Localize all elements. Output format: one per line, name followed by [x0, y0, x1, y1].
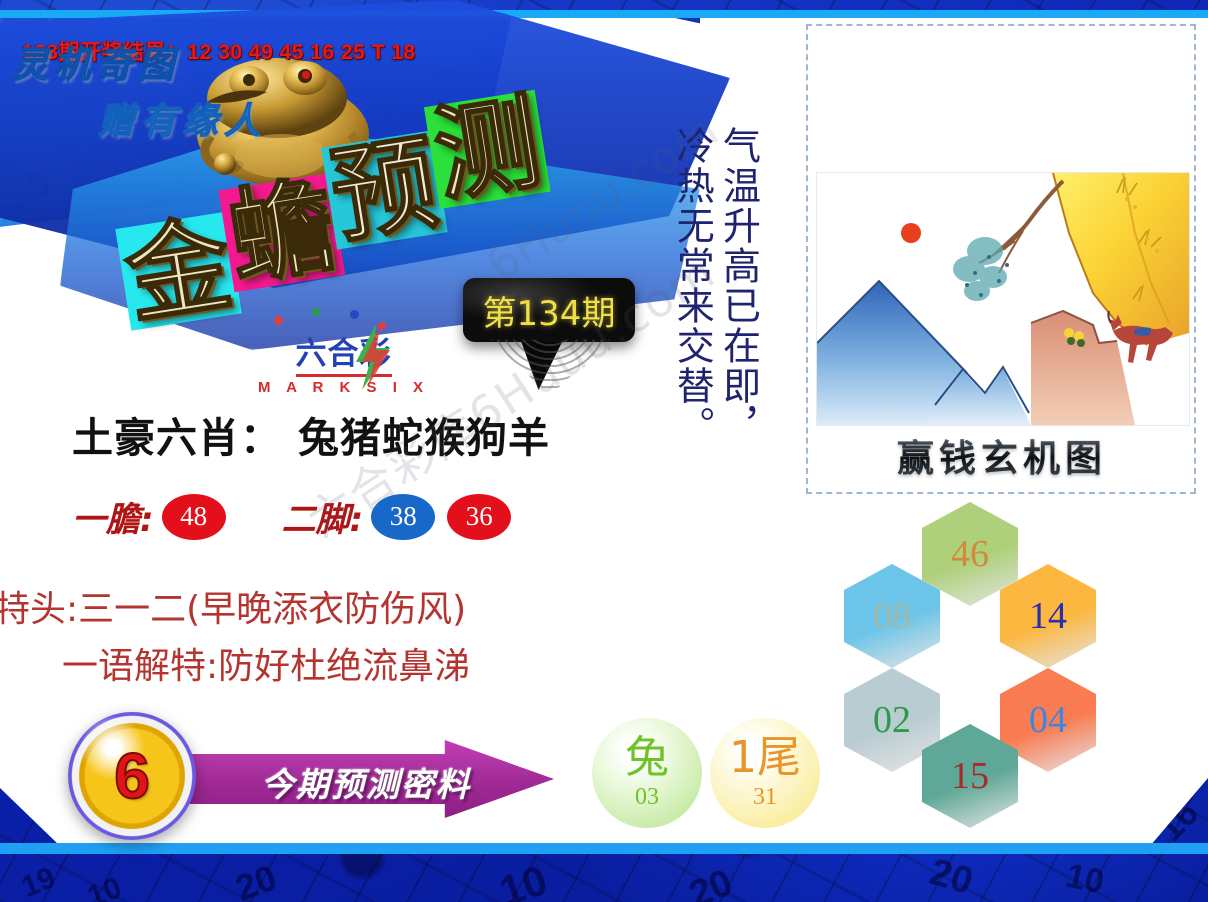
jiao-ball-1: 38: [371, 494, 435, 540]
mark-six-logo-en: M A R K S I X: [258, 379, 429, 396]
right-panel-title-line-2: 赠有缘人: [98, 92, 378, 144]
hexagon-number-label: 04: [1029, 698, 1067, 742]
secret-material-banner: 今期预测密料: [164, 718, 554, 840]
jiao-ball-2: 36: [447, 494, 511, 540]
title-char-3: 预: [321, 131, 448, 250]
lucky-ball-6-number: 6: [68, 712, 196, 840]
zodiac-bubble-label: 兔: [625, 736, 669, 780]
poem-line-1: 气温升高已在即，: [718, 126, 758, 446]
zodiac-value: 兔猪蛇猴狗羊: [298, 414, 550, 462]
number-balls-row: 一膽: 48 二脚: 38 36: [72, 492, 523, 541]
poem-line-2: 冷热无常来交替。: [672, 126, 712, 446]
title-char-2: 蟾: [218, 173, 345, 292]
hexagon-number-label: 08: [873, 594, 911, 638]
jiao-label: 二脚:: [282, 492, 364, 541]
hexagon-number-label: 15: [951, 754, 989, 798]
arrow-label: 今期预测密料: [216, 758, 516, 806]
right-panel-title: 灵机奇图 赠有缘人: [12, 36, 378, 144]
tail-bubble: 1尾 31: [710, 718, 820, 828]
bottom-cyan-strip: [0, 843, 1208, 854]
hexagon-number-label: 46: [951, 532, 989, 576]
issue-badge-label: 第134期: [483, 286, 616, 335]
title-char-1: 金: [115, 212, 242, 331]
te-tou-line: 特头:三一二(早晚添衣防伤风): [0, 580, 466, 632]
poem-block: 气温升高已在即， 冷热无常来交替。: [672, 126, 759, 446]
hexagon-number-group: 46 08 14 02 04 15: [836, 502, 1104, 784]
zodiac-label: 土豪六肖：: [72, 414, 282, 462]
issue-badge: 第134期: [463, 278, 635, 342]
tail-bubble-number: 31: [753, 784, 777, 811]
watercolor-illustration: [816, 172, 1190, 426]
dan-ball: 48: [162, 494, 226, 540]
lucky-ball-6: 6: [68, 712, 196, 840]
zodiac-bubble-rabbit: 兔 03: [592, 718, 702, 828]
title-char-4: 测: [424, 90, 551, 209]
zodiac-prediction-row: 土豪六肖：兔猪蛇猴狗羊: [72, 404, 550, 464]
dan-label: 一膽:: [72, 492, 154, 541]
poster-root: 10 20 10 20 19 10 10 20 20 10 16 10 10 1…: [0, 0, 1208, 902]
lightning-bolt-icon: [350, 324, 394, 390]
yi-yu-jie-te-line: 一语解特:防好杜绝流鼻涕: [62, 637, 470, 689]
right-panel-caption: 赢钱玄机图: [816, 428, 1188, 482]
zodiac-bubble-number: 03: [635, 784, 659, 811]
tail-bubble-label: 1尾: [729, 736, 801, 780]
mark-six-logo: 六合彩 M A R K S I X: [258, 328, 429, 396]
hexagon-number-label: 02: [873, 698, 911, 742]
right-panel-title-line-1: 灵机奇图: [12, 36, 378, 88]
hexagon-number-label: 14: [1029, 594, 1067, 638]
